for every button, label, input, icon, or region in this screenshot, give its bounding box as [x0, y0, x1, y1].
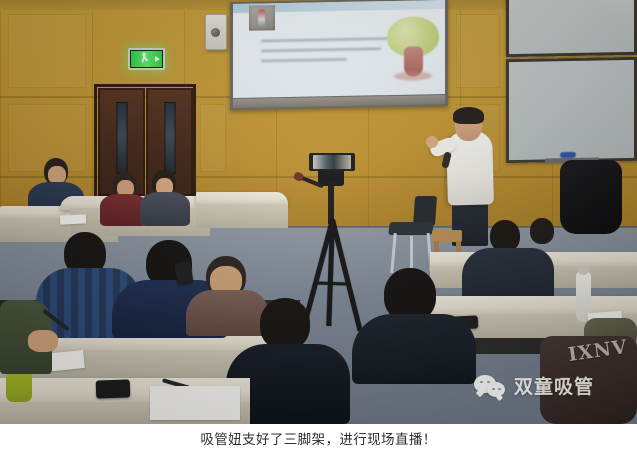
wall-panel [200, 104, 226, 172]
wechat-dot [498, 388, 501, 391]
backpack [560, 160, 622, 234]
slide-text-line [261, 37, 389, 42]
whiteboard-lower [506, 57, 637, 163]
slide-thumbnail-image [249, 5, 275, 30]
presenter-hair [453, 107, 484, 124]
wall-panel [8, 14, 86, 88]
screen-surface [233, 0, 445, 98]
paper-sheet [60, 214, 86, 224]
door-window [116, 102, 127, 174]
door-window [164, 102, 175, 174]
whiteboard-upper [506, 0, 637, 57]
tripod-center-column [328, 182, 334, 224]
caption-bar: 吸管妞支好了三脚架，进行现场直播！ [0, 424, 637, 452]
wechat-watermark: 双童吸管 [474, 372, 594, 399]
wall-panel [456, 14, 500, 88]
smartphone-on-desk [96, 379, 131, 398]
exit-arrow-icon [155, 56, 160, 62]
slide-text-line [261, 47, 381, 52]
chair-leg [410, 236, 413, 270]
tree-base [394, 71, 432, 81]
wechat-bubble-small [487, 382, 505, 397]
slide-tree-illustration [385, 16, 441, 85]
slide-text-line [261, 58, 347, 63]
watermark-text: 双童吸管 [514, 372, 594, 399]
lecture-hall-photo: IXNV [0, 0, 637, 424]
lecture-desk-front [196, 204, 288, 228]
wall-speaker-icon [205, 14, 227, 50]
whiteboard-marker [560, 152, 576, 158]
photo-page: IXNV [0, 0, 637, 452]
wechat-dot [492, 388, 495, 391]
projection-screen [230, 0, 448, 110]
exit-sign-icon [128, 48, 165, 70]
smartphone-held [175, 261, 194, 285]
photo-caption: 吸管妞支好了三脚架，进行现场直播！ [200, 428, 436, 448]
wechat-logo-icon [474, 373, 508, 399]
notepad [150, 386, 240, 420]
wechat-dot [480, 381, 483, 384]
smartphone-screen [313, 155, 351, 169]
wechat-dot [487, 381, 490, 384]
presenter-hand [426, 136, 438, 148]
